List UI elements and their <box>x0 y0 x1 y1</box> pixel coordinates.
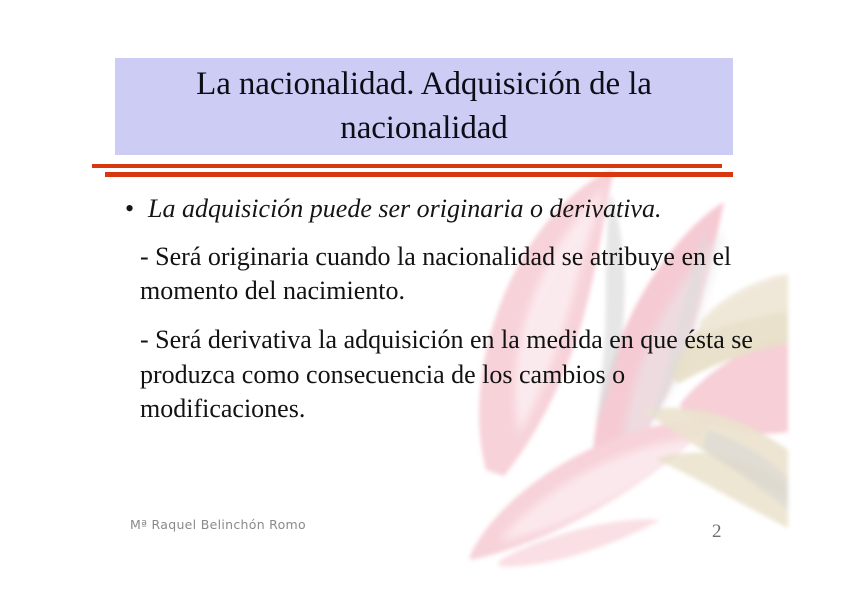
paragraph-derivativa: - Será derivativa la adquisición en la m… <box>115 323 760 427</box>
bullet-item-text: La adquisición puede ser originaria o de… <box>148 194 661 223</box>
paragraph-originaria: - Será originaria cuando la nacionalidad… <box>115 240 760 309</box>
page-number: 2 <box>712 521 722 543</box>
bullet-item: • La adquisición puede ser originaria o … <box>115 192 708 226</box>
footer-author: Mª Raquel Belinchón Romo <box>130 517 306 532</box>
title-box: La nacionalidad. Adquisición de la nacio… <box>115 58 733 155</box>
body-content: • La adquisición puede ser originaria o … <box>115 192 775 427</box>
divider-rule-top <box>92 164 722 168</box>
slide-canvas: La nacionalidad. Adquisición de la nacio… <box>0 0 848 599</box>
page-title: La nacionalidad. Adquisición de la nacio… <box>115 63 733 151</box>
divider-rule-bottom <box>105 172 733 177</box>
bullet-dot-icon: • <box>125 192 134 226</box>
